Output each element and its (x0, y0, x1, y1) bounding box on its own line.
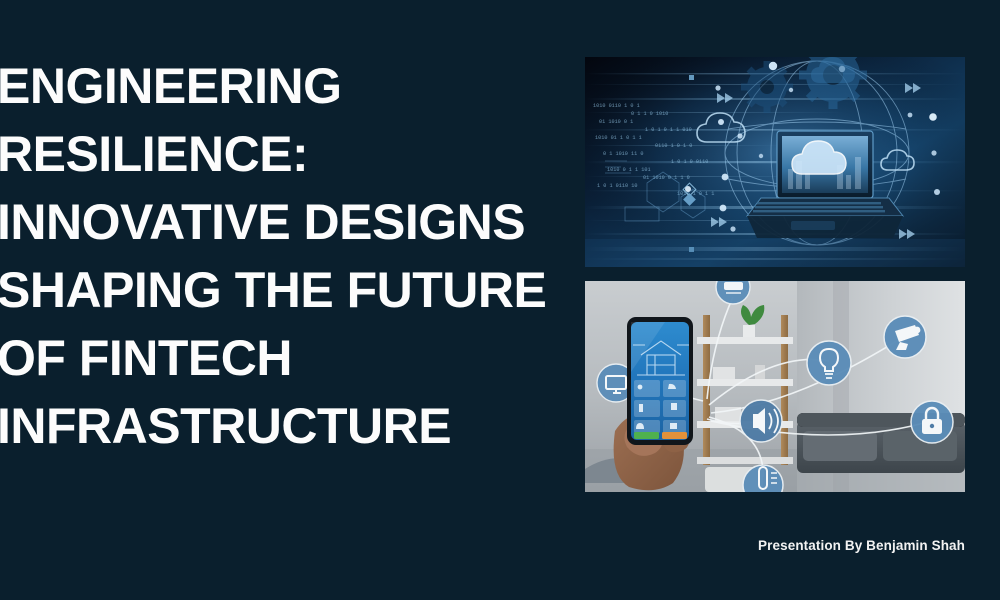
title-line-6: INFRASTRUCTURE (0, 392, 580, 460)
speaker-icon (740, 400, 782, 442)
title-line-2: RESILIENCE: (0, 120, 580, 188)
svg-text:1 0 1 0 1 1 010: 1 0 1 0 1 1 010 (645, 127, 692, 133)
svg-text:1 0 1 0110 10: 1 0 1 0110 10 (597, 183, 637, 189)
cloud-computing-image: 1010 0110 1 0 1 0 1 1 0 1010 01 1010 0 1… (585, 57, 965, 267)
security-camera-icon (884, 316, 926, 358)
svg-text:1 0 1 0 0110: 1 0 1 0 0110 (671, 159, 708, 165)
title-line-1: ENGINEERING (0, 52, 580, 120)
app-button-green (634, 432, 659, 439)
app-button-orange (662, 432, 687, 439)
svg-text:1010 01 1 0 1 1: 1010 01 1 0 1 1 (595, 135, 642, 141)
svg-text:1010 0 1 1 101: 1010 0 1 1 101 (607, 167, 651, 173)
svg-text:0 1 1010 11 0: 0 1 1010 11 0 (603, 151, 643, 157)
presentation-attribution: Presentation By Benjamin Shah (758, 538, 965, 553)
svg-text:1010 0110 1 0 1: 1010 0110 1 0 1 (593, 103, 640, 109)
svg-text:0 1 1 0 1010: 0 1 1 0 1010 (631, 111, 668, 117)
lock-icon (911, 401, 953, 443)
app-control-tiles (634, 380, 686, 433)
smart-home-iot-photo (585, 281, 965, 492)
presentation-slide: ENGINEERING RESILIENCE: INNOVATIVE DESIG… (0, 0, 1000, 600)
lightbulb-icon (807, 341, 851, 385)
svg-text:01 1010 0 1: 01 1010 0 1 (599, 119, 633, 125)
svg-text:0110 1 0 1 0: 0110 1 0 1 0 (655, 143, 692, 149)
page-title: ENGINEERING RESILIENCE: INNOVATIVE DESIG… (0, 52, 580, 460)
title-line-3: INNOVATIVE DESIGNS (0, 188, 580, 256)
title-line-4: SHAPING THE FUTURE (0, 256, 580, 324)
cloud-computing-illustration: 1010 0110 1 0 1 0 1 1 0 1010 01 1010 0 1… (585, 57, 965, 267)
svg-text:01 1010 0 1 1 0: 01 1010 0 1 1 0 (643, 175, 690, 181)
title-line-5: OF FINTECH (0, 324, 580, 392)
smart-home-iot-image (585, 281, 965, 492)
